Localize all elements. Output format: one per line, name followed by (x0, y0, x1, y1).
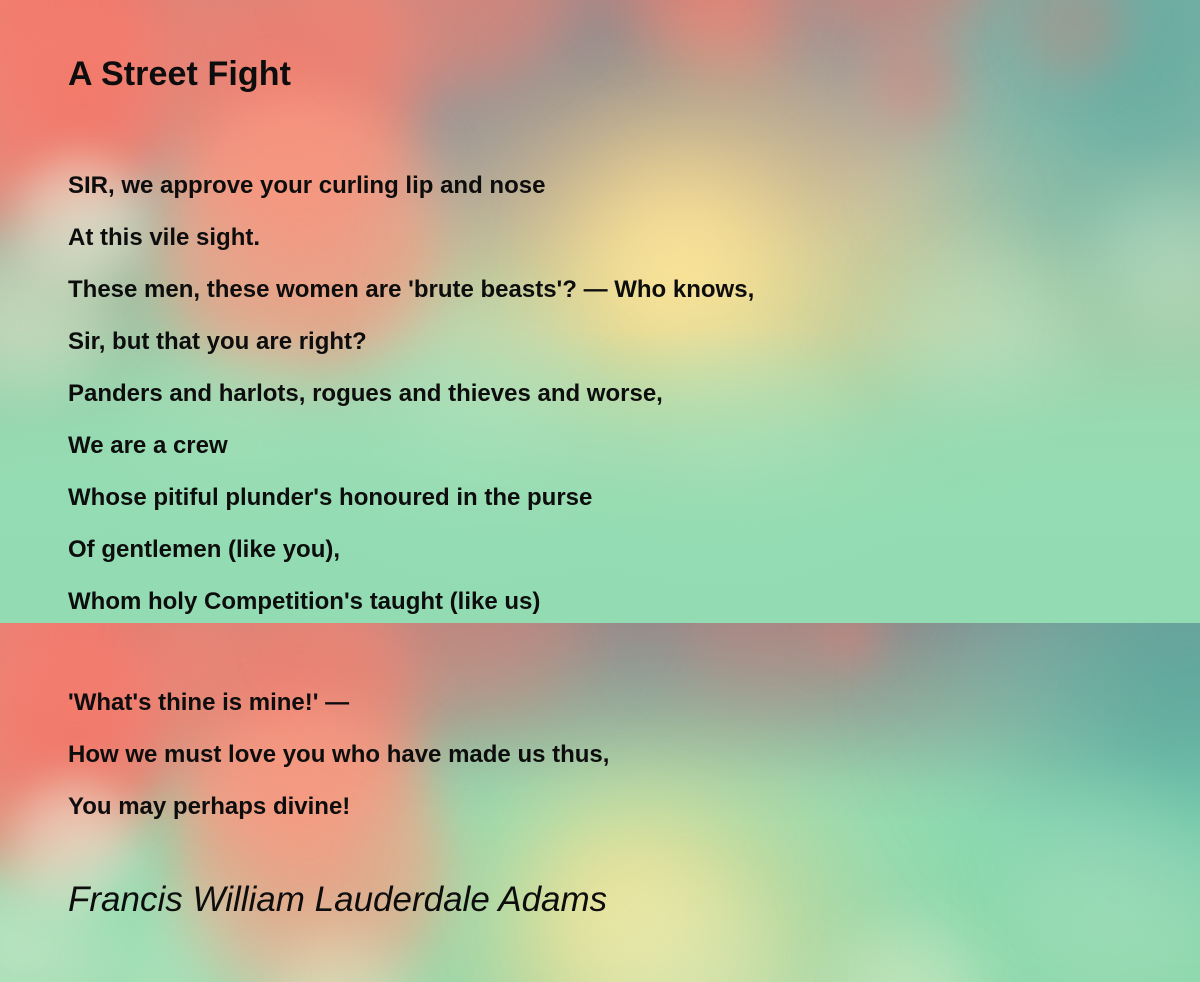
poem-line: Of gentlemen (like you), (68, 524, 1148, 576)
poem-author: Francis William Lauderdale Adams (68, 880, 607, 920)
poem-text-layer: A Street Fight SIR, we approve your curl… (0, 0, 1200, 982)
poem-line: At this vile sight. (68, 212, 1148, 264)
poem-image-card: A Street Fight SIR, we approve your curl… (0, 0, 1200, 982)
poem-line: These men, these women are 'brute beasts… (68, 264, 1148, 316)
poem-line: 'What's thine is mine!' — (68, 677, 1148, 729)
page-title: A Street Fight (68, 55, 291, 94)
poem-line: Whom holy Competition's taught (like us) (68, 576, 1148, 628)
poem-line: We are a crew (68, 420, 1148, 472)
poem-line: You may perhaps divine! (68, 781, 1148, 833)
poem-line: Sir, but that you are right? (68, 316, 1148, 368)
poem-stanza: 'What's thine is mine!' — How we must lo… (68, 677, 1148, 833)
poem-line: Panders and harlots, rogues and thieves … (68, 368, 1148, 420)
poem-line: Whose pitiful plunder's honoured in the … (68, 472, 1148, 524)
poem-stanza: SIR, we approve your curling lip and nos… (68, 160, 1148, 628)
poem-line: SIR, we approve your curling lip and nos… (68, 160, 1148, 212)
poem-line: How we must love you who have made us th… (68, 729, 1148, 781)
